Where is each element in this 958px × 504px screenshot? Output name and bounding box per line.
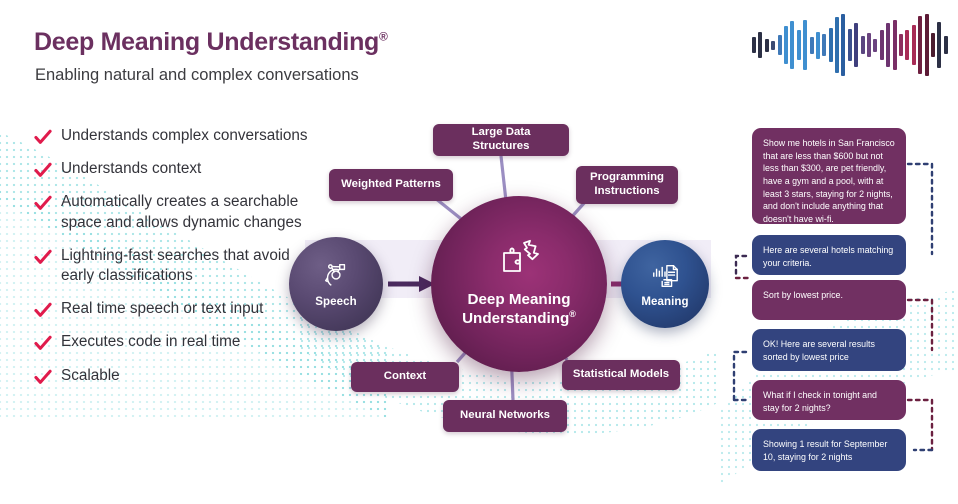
speech-head-icon [321, 260, 351, 290]
waveform-bar [931, 33, 935, 57]
feature-bullet-item: Executes code in real time [34, 332, 324, 352]
node-center-label-text: Deep Meaning Understanding [462, 291, 570, 327]
chat-bubble-user[interactable]: Sort by lowest price. [752, 280, 906, 320]
feature-bullet-label: Understands context [61, 159, 201, 179]
chat-bubble-user[interactable]: Show me hotels in San Francisco that are… [752, 128, 906, 224]
waveform-bar [886, 23, 890, 67]
check-icon [34, 195, 52, 211]
chat-bubble-user[interactable]: What if I check in tonight and stay for … [752, 380, 906, 420]
waveform-bar [822, 34, 826, 56]
chat-bubble-bot[interactable]: Here are several hotels matching your cr… [752, 235, 906, 275]
page-title-text: Deep Meaning Understanding [34, 28, 379, 56]
waveform-bar [918, 16, 922, 74]
pill-neural-networks[interactable]: Neural Networks [443, 400, 567, 432]
waveform-bar [758, 32, 762, 58]
node-meaning-label: Meaning [641, 296, 688, 308]
node-meaning[interactable]: Meaning [621, 240, 709, 328]
feature-bullet-list: Understands complex conversationsUnderst… [34, 126, 324, 386]
check-icon [34, 369, 52, 385]
pill-context[interactable]: Context [351, 362, 459, 392]
feature-bullet-item: Understands complex conversations [34, 126, 324, 146]
node-center-label: Deep Meaning Understanding® [431, 290, 607, 328]
waveform-bar [944, 36, 948, 54]
waveform-document-icon [650, 261, 680, 291]
feature-bullet-item: Understands context [34, 159, 324, 179]
node-center-mark: ® [569, 309, 576, 319]
feature-bullet-item: Real time speech or text input [34, 299, 324, 319]
waveform-bar [797, 30, 801, 60]
waveform-bar [867, 33, 871, 57]
waveform-bar [841, 14, 845, 76]
waveform-bar [912, 25, 916, 65]
registered-mark: ® [379, 30, 388, 44]
waveform-bar [925, 14, 929, 76]
waveform-bar [873, 39, 877, 52]
waveform-bar [784, 26, 788, 64]
pill-statistical-models[interactable]: Statistical Models [562, 360, 680, 390]
check-icon [34, 129, 52, 145]
feature-bullet-label: Real time speech or text input [61, 299, 263, 319]
waveform-bar [778, 35, 782, 55]
page-title: Deep Meaning Understanding® [34, 28, 388, 57]
audio-waveform-graphic [752, 14, 948, 76]
page-subtitle: Enabling natural and complex conversatio… [35, 66, 359, 85]
node-deep-meaning-understanding[interactable]: Deep Meaning Understanding® [431, 196, 607, 372]
pill-weighted-patterns[interactable]: Weighted Patterns [329, 169, 453, 201]
waveform-bar [937, 22, 941, 68]
waveform-bar [905, 30, 909, 60]
waveform-bar [829, 28, 833, 62]
waveform-bar [790, 21, 794, 69]
arrow-speech-to-center [388, 276, 435, 292]
waveform-bar [893, 20, 897, 70]
waveform-bar [854, 23, 858, 67]
waveform-bar [771, 41, 775, 50]
waveform-bar [765, 39, 769, 52]
feature-bullet-item: Scalable [34, 366, 324, 386]
check-icon [34, 162, 52, 178]
check-icon [34, 335, 52, 351]
feature-bullet-label: Scalable [61, 366, 120, 386]
waveform-bar [861, 36, 865, 54]
node-speech[interactable]: Speech [289, 237, 383, 331]
waveform-bar [848, 29, 852, 61]
waveform-bar [816, 32, 820, 59]
feature-bullet-label: Understands complex conversations [61, 126, 308, 146]
chat-bubble-bot[interactable]: Showing 1 result for September 10, stayi… [752, 429, 906, 471]
feature-bullet-item: Lightning-fast searches that avoid early… [34, 246, 324, 286]
chat-bubble-bot[interactable]: OK! Here are several results sorted by l… [752, 329, 906, 371]
waveform-bar [880, 30, 884, 60]
pill-programming-instructions[interactable]: Programming Instructions [576, 166, 678, 204]
check-icon [34, 302, 52, 318]
waveform-bar [803, 20, 807, 70]
puzzle-piece-icon [496, 239, 542, 281]
concept-diagram: Speech Deep Meaning Understanding® [285, 110, 725, 440]
waveform-bar [752, 37, 756, 53]
waveform-bar [835, 17, 839, 73]
pill-large-data-structures[interactable]: Large Data Structures [433, 124, 569, 156]
feature-bullet-label: Executes code in real time [61, 332, 240, 352]
infographic-canvas: Deep Meaning Understanding® Enabling nat… [0, 0, 958, 504]
feature-bullet-item: Automatically creates a searchable space… [34, 192, 324, 232]
node-speech-label: Speech [315, 296, 357, 308]
waveform-bar [810, 37, 814, 54]
waveform-bar [899, 34, 903, 56]
check-icon [34, 249, 52, 265]
